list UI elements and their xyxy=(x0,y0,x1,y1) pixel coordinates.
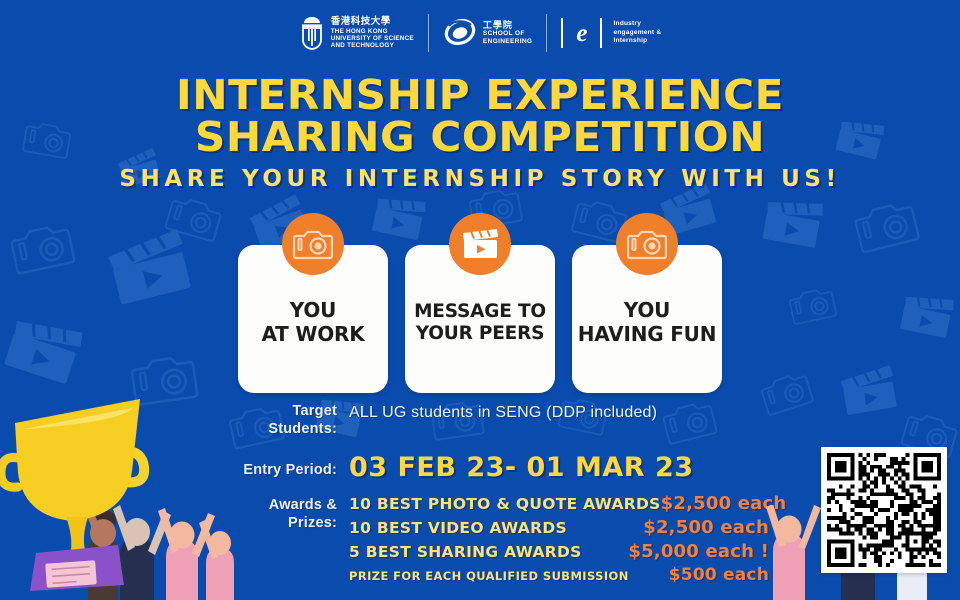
qr-code[interactable] xyxy=(821,447,947,573)
e-mark: e xyxy=(569,21,594,46)
card-you-at-work: YOU AT WORK xyxy=(238,245,388,393)
card-message-to-your-peers: MESSAGE TO YOUR PEERS xyxy=(405,245,555,393)
awards-section: Awards & Prizes: 10 BEST PHOTO & QUOTE A… xyxy=(205,493,769,588)
title-line-1: INTERNSHIP EXPERIENCE xyxy=(0,74,960,116)
e-left-rule xyxy=(561,18,563,48)
award-row: 5 BEST SHARING AWARDS$5,000 each ! xyxy=(349,541,769,562)
award-row: PRIZE FOR EACH QUALIFIED SUBMISSION$500 … xyxy=(349,565,769,585)
award-name: 5 BEST SHARING AWARDS xyxy=(349,543,582,561)
entry-period-value: 03 FEB 23- 01 MAR 23 xyxy=(349,454,694,481)
background-camera-icon xyxy=(163,189,227,245)
seng-name-chinese: 工學院 xyxy=(483,20,532,31)
award-row: 10 BEST PHOTO & QUOTE AWARDS$2,500 each xyxy=(349,493,769,514)
award-row: 10 BEST VIDEO AWARDS$2,500 each xyxy=(349,517,769,538)
card-you-having-fun: YOU HAVING FUN xyxy=(572,245,722,393)
camera-icon xyxy=(282,213,344,275)
award-amount: $2,500 each xyxy=(643,517,769,538)
awards-label: Awards & Prizes: xyxy=(205,493,337,588)
page-subtitle: SHARE YOUR INTERNSHIP STORY WITH US! xyxy=(0,166,960,192)
target-students-row: Target Students: ALL UG students in SENG… xyxy=(205,400,960,438)
hkust-emblem-icon xyxy=(299,16,325,50)
e-right-rule xyxy=(600,18,602,48)
card-label: MESSAGE TO YOUR PEERS xyxy=(414,293,546,345)
award-amount: $5,000 each ! xyxy=(628,541,769,562)
awards-table: 10 BEST PHOTO & QUOTE AWARDS$2,500 each1… xyxy=(349,493,769,588)
engineering-swirl-icon xyxy=(443,18,477,48)
background-clapperboard-icon xyxy=(758,191,830,252)
award-name: 10 BEST VIDEO AWARDS xyxy=(349,519,567,537)
title-line-2: SHARING COMPETITION xyxy=(0,116,960,158)
qr-code-image xyxy=(827,453,941,567)
details-section: Target Students: ALL UG students in SENG… xyxy=(0,400,960,481)
background-clapperboard-icon xyxy=(896,287,960,343)
category-cards: YOU AT WORK MESSAGE TO YOUR PEERS xyxy=(238,245,722,393)
page-title: INTERNSHIP EXPERIENCE SHARING COMPETITIO… xyxy=(0,74,960,158)
background-clapperboard-icon xyxy=(101,223,201,311)
camera-icon xyxy=(616,213,678,275)
card-label: YOU HAVING FUN xyxy=(578,291,717,346)
school-of-engineering-logo: 工學院 SCHOOL OF ENGINEERING xyxy=(429,18,546,48)
background-camera-icon xyxy=(7,216,78,278)
hkust-name-english: THE HONG KONG UNIVERSITY OF SCIENCE AND … xyxy=(331,28,414,49)
hkust-logo: 香港科技大學 THE HONG KONG UNIVERSITY OF SCIEN… xyxy=(285,16,428,50)
award-name: PRIZE FOR EACH QUALIFIED SUBMISSION xyxy=(349,569,629,583)
target-students-label: Target Students: xyxy=(205,400,337,438)
award-amount: $2,500 each xyxy=(661,493,787,514)
award-name: 10 BEST PHOTO & QUOTE AWARDS xyxy=(349,495,661,513)
background-clapperboard-icon xyxy=(368,189,432,245)
background-camera-icon xyxy=(787,282,840,328)
card-label: YOU AT WORK xyxy=(261,291,364,346)
background-clapperboard-icon xyxy=(0,307,92,390)
header-logo-bar: 香港科技大學 THE HONG KONG UNIVERSITY OF SCIEN… xyxy=(0,8,960,58)
poster: 香港科技大學 THE HONG KONG UNIVERSITY OF SCIEN… xyxy=(0,0,960,600)
seng-name-english: SCHOOL OF ENGINEERING xyxy=(483,30,532,46)
award-amount: $500 each xyxy=(669,565,769,585)
entry-period-label: Entry Period: xyxy=(205,454,337,479)
industry-engagement-text: Industry engagement & Internship xyxy=(613,20,661,47)
video-clapperboard-icon xyxy=(449,213,511,275)
industry-engagement-logo: e Industry engagement & Internship xyxy=(547,18,675,48)
hkust-name-chinese: 香港科技大學 xyxy=(331,17,414,28)
target-students-value: ALL UG students in SENG (DDP included) xyxy=(349,400,657,422)
background-camera-icon xyxy=(851,193,923,257)
